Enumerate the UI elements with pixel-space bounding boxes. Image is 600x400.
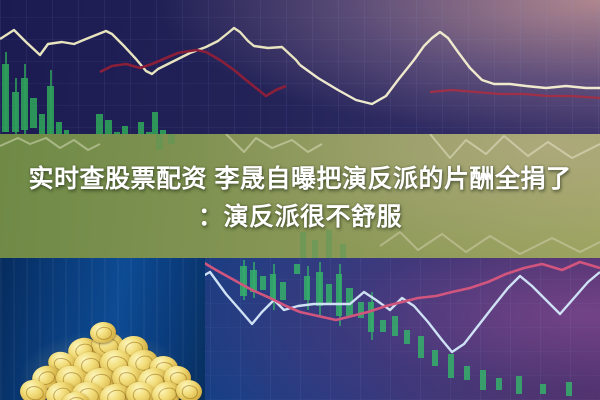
- band-line-mid: [226, 134, 322, 152]
- page-title-line-1: 实时查股票配资 李晟自曝把演反派的片酬全捐了: [0, 160, 600, 198]
- cream-index-line-right: [300, 32, 600, 104]
- thumbnail-image: 实时查股票配资 李晟自曝把演反派的片酬全捐了 ：演反派很不舒服: [0, 0, 600, 400]
- top-chart-lines: [0, 0, 600, 150]
- band-line-left: [0, 138, 100, 150]
- page-title-line-2: ：演反派很不舒服: [0, 198, 600, 236]
- cream-index-line: [0, 28, 300, 74]
- band-line-right: [430, 134, 600, 158]
- red-index-line-right: [430, 90, 600, 98]
- title-block: 实时查股票配资 李晟自曝把演反派的片酬全捐了 ：演反派很不舒服: [0, 160, 600, 236]
- top-chart-panel: [0, 0, 600, 150]
- dark-red-index-line: [100, 50, 286, 96]
- pink-index-line: [196, 258, 600, 320]
